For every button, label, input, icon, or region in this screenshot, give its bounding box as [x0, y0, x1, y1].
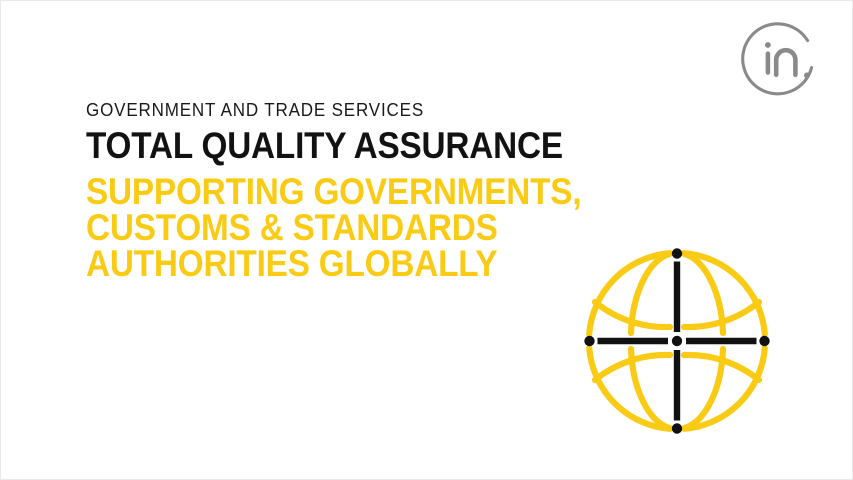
- globe-node-center: [672, 336, 682, 346]
- page-title: TOTAL QUALITY ASSURANCE: [86, 128, 590, 164]
- subhead-line-2: CUSTOMS & STANDARDS: [86, 210, 590, 246]
- slide-canvas: GOVERNMENT AND TRADE SERVICES TOTAL QUAL…: [0, 0, 853, 480]
- eyebrow-label: GOVERNMENT AND TRADE SERVICES: [86, 99, 601, 121]
- logo-gap-dot: [804, 72, 810, 78]
- globe-node-west: [584, 336, 594, 346]
- globe-node-south: [672, 423, 682, 433]
- logo-letter-n: [776, 50, 795, 75]
- intertek-in-logo: [741, 15, 825, 99]
- subhead-line-3: AUTHORITIES GLOBALLY: [86, 246, 590, 282]
- logo-letter-i-dot: [765, 42, 771, 48]
- subhead-line-1: SUPPORTING GOVERNMENTS,: [86, 174, 590, 210]
- headline-text-block: GOVERNMENT AND TRADE SERVICES TOTAL QUAL…: [86, 99, 646, 282]
- globe-node-east: [759, 336, 769, 346]
- logo-letter-i-stem: [766, 51, 771, 74]
- globe-icon: [575, 239, 779, 443]
- globe-node-north: [672, 248, 682, 258]
